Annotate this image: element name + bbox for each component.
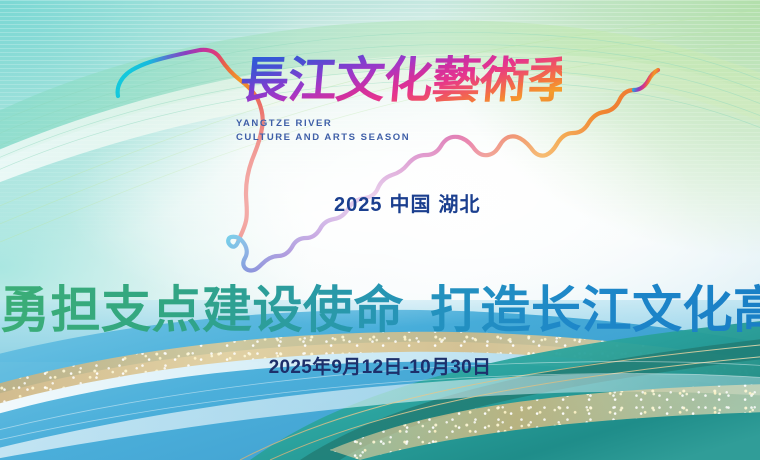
subtitle-english: YANGTZE RIVER CULTURE AND ARTS SEASON: [236, 117, 410, 145]
year-location-line: 2025中国湖北: [334, 188, 481, 217]
main-headline: 勇担支点建设使命打造长江文化高地: [0, 270, 760, 342]
promotional-banner: 長江文化藝術季 YANGTZE RIVER CULTURE AND ARTS S…: [0, 0, 760, 460]
headline-part-2: 打造长江文化高地: [430, 282, 760, 338]
subtitle-line-2: CULTURE AND ARTS SEASON: [236, 131, 410, 145]
calligraphy-glyphs: 長江文化藝術季: [238, 51, 562, 109]
headline-part-1: 勇担支点建设使命: [0, 282, 404, 338]
banner-content: 長江文化藝術季 YANGTZE RIVER CULTURE AND ARTS S…: [0, 0, 760, 460]
province-text: 湖北: [439, 194, 481, 216]
date-range: 2025年9月12日-10月30日: [0, 352, 760, 379]
subtitle-line-1: YANGTZE RIVER: [236, 117, 410, 131]
year-text: 2025: [334, 194, 383, 216]
calligraphy-title: 長江文化藝術季: [232, 46, 562, 118]
country-text: 中国: [390, 194, 432, 216]
